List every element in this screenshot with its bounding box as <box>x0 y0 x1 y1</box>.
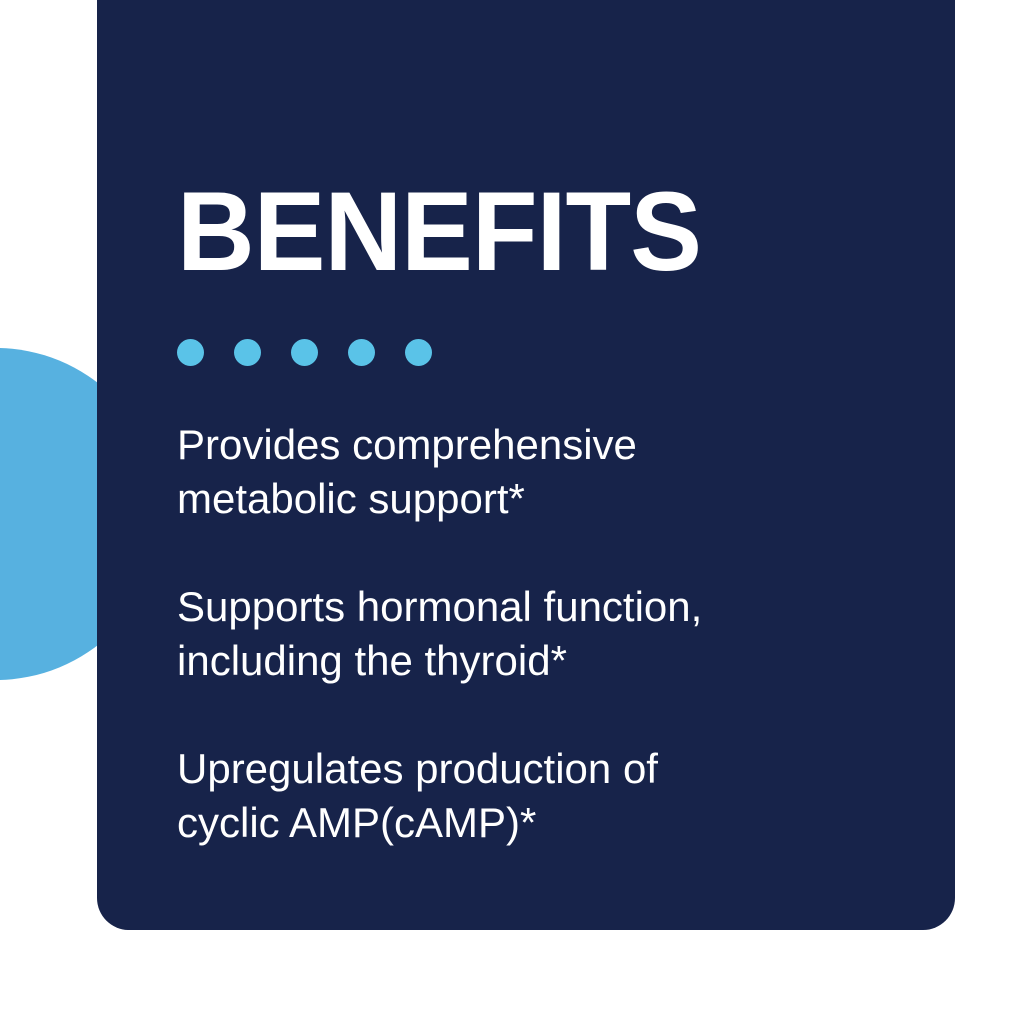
divider-dot-icon <box>348 339 375 366</box>
divider-dot-icon <box>405 339 432 366</box>
list-item: Supports hormonal function, including th… <box>177 580 937 688</box>
card-content: BENEFITS Provides comprehensive metaboli… <box>177 0 955 930</box>
divider-dot-icon <box>291 339 318 366</box>
benefits-card: BENEFITS Provides comprehensive metaboli… <box>97 0 955 930</box>
dot-divider <box>177 339 432 366</box>
benefits-panel-stage: BENEFITS Provides comprehensive metaboli… <box>0 0 1024 1024</box>
list-item: Provides comprehensive metabolic support… <box>177 418 937 526</box>
list-item: Upregulates production of cyclic AMP(cAM… <box>177 742 937 850</box>
divider-dot-icon <box>177 339 204 366</box>
divider-dot-icon <box>234 339 261 366</box>
page-title: BENEFITS <box>177 176 701 288</box>
benefits-list: Provides comprehensive metabolic support… <box>177 418 937 850</box>
